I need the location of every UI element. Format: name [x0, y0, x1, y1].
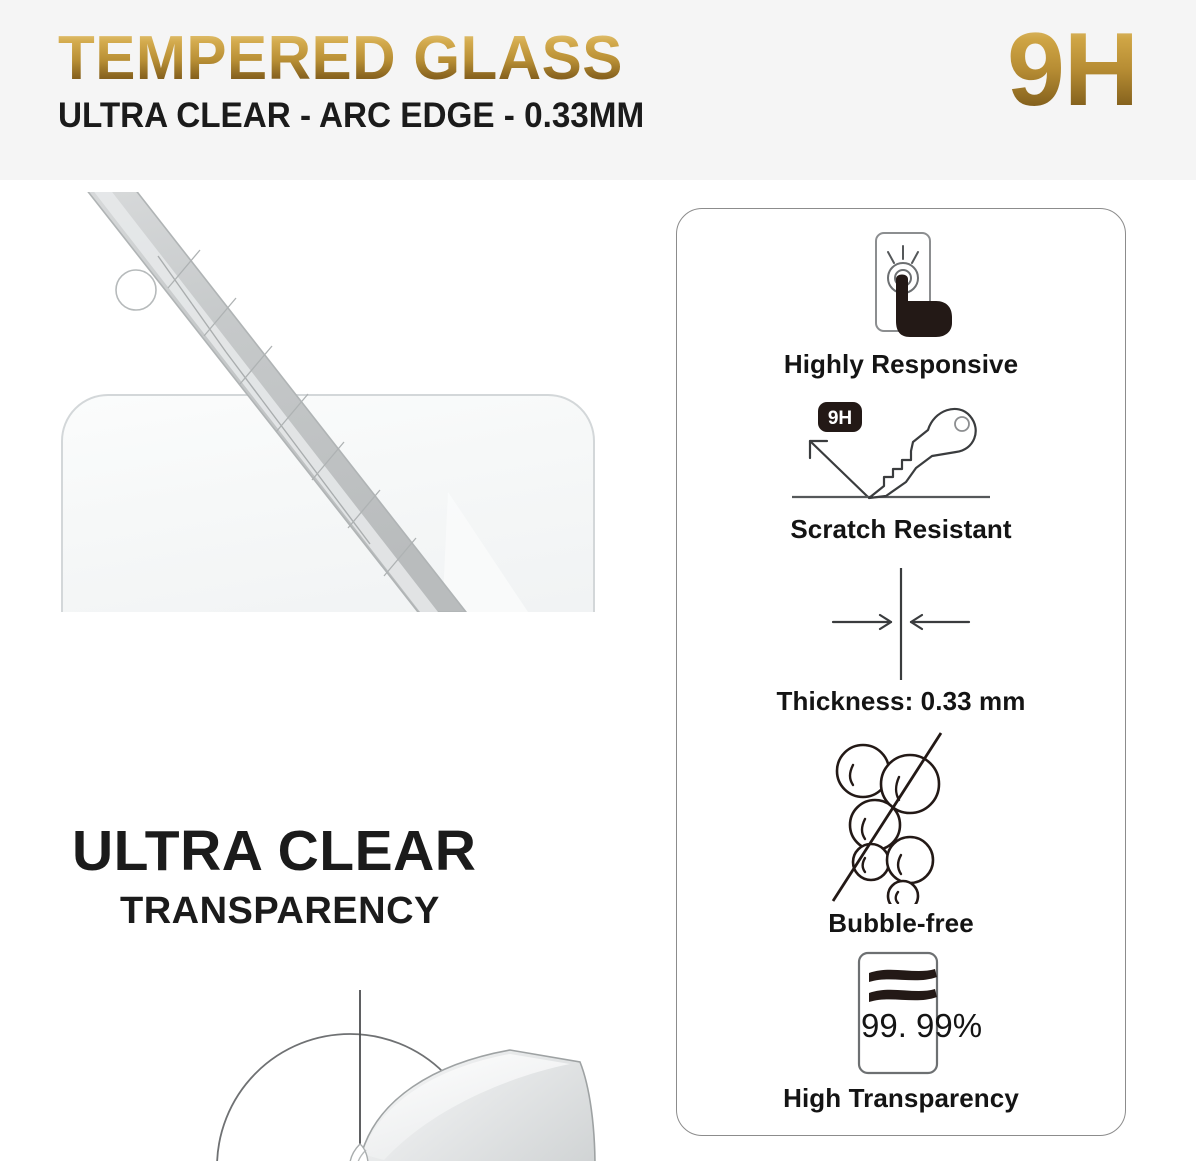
feature-high-transparency: 99. 99% High Transparency	[677, 949, 1125, 1114]
feature-highly-responsive: Highly Responsive	[677, 227, 1125, 380]
blade-over-glass-illustration	[40, 192, 640, 612]
header-text-block: TEMPERED GLASS ULTRA CLEAR - ARC EDGE - …	[58, 28, 675, 133]
features-panel: Highly Responsive 9H	[676, 208, 1126, 1136]
badge-9h-small: 9H	[818, 402, 862, 432]
feature-scratch-resistant: 9H Scratch Resistant	[677, 394, 1125, 545]
product-infographic: TEMPERED GLASS ULTRA CLEAR - ARC EDGE - …	[0, 0, 1196, 1161]
transparency-value: 99. 99%	[861, 1007, 982, 1044]
ultra-clear-headline: ULTRA CLEAR TRANSPARENCY	[72, 822, 572, 932]
left-panel: ULTRA CLEAR TRANSPARENCY	[0, 182, 660, 1161]
feature-label-bubble-free: Bubble-free	[677, 908, 1125, 939]
feature-bubble-free: Bubble-free	[677, 729, 1125, 939]
blade-glass-svg	[40, 192, 640, 612]
page-subtitle: ULTRA CLEAR - ARC EDGE - 0.33MM	[58, 98, 644, 133]
svg-text:9H: 9H	[828, 408, 852, 429]
page-title: TEMPERED GLASS	[58, 28, 657, 90]
thickness-arrows-icon	[677, 564, 1125, 684]
feature-label-highly-responsive: Highly Responsive	[677, 349, 1125, 380]
hardness-badge-9h: 9H	[1007, 18, 1138, 122]
arc-edge-body	[350, 1050, 596, 1161]
headline-line-1: ULTRA CLEAR	[72, 822, 572, 882]
feature-label-thickness: Thickness: 0.33 mm	[677, 686, 1125, 717]
arc-edge-svg	[40, 972, 640, 1161]
phone-touch-icon	[677, 227, 1125, 345]
arc-edge-label: 2.5D ARC EDGE	[28, 1157, 217, 1161]
header-banner: TEMPERED GLASS ULTRA CLEAR - ARC EDGE - …	[0, 0, 1196, 180]
feature-label-scratch-resistant: Scratch Resistant	[677, 514, 1125, 545]
feature-label-high-transparency: High Transparency	[677, 1083, 1125, 1114]
feature-thickness: Thickness: 0.33 mm	[677, 564, 1125, 717]
key-scratch-icon: 9H	[677, 394, 1125, 512]
bubbles-crossed-icon	[677, 729, 1125, 904]
headline-line-2: TRANSPARENCY	[120, 892, 572, 932]
arc-edge-illustration	[40, 972, 640, 1161]
arc-edge-label-line-1: 2.5D	[28, 1157, 217, 1161]
transparency-phone-icon: 99. 99%	[677, 949, 1125, 1077]
glass-sheet	[62, 395, 594, 612]
